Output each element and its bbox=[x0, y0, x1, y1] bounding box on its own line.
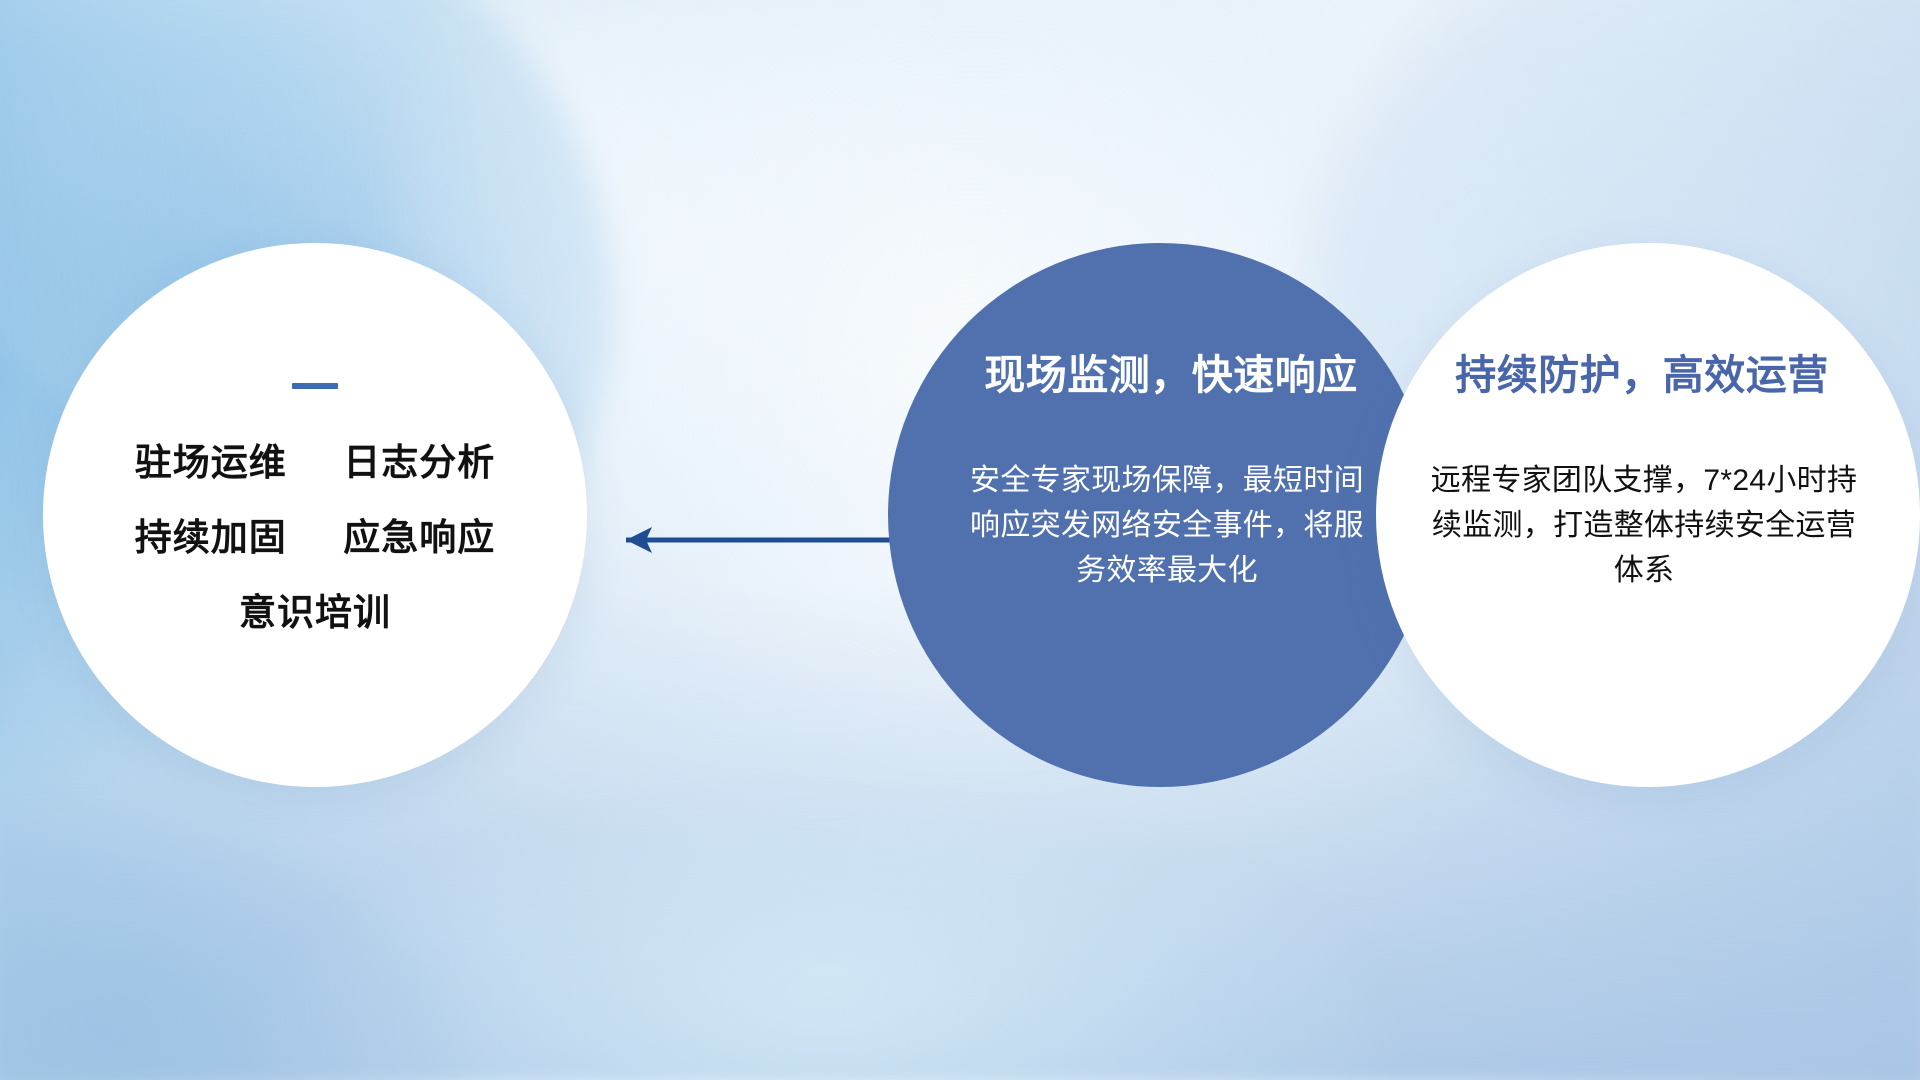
circle-onsite-monitoring[interactable] bbox=[888, 243, 1432, 787]
slide-canvas: 驻场运维 日志分析 持续加固 应急响应 意识培训 现场监测，快速响应 安全专家现… bbox=[0, 0, 1920, 1080]
circle-continuous-protection[interactable] bbox=[1376, 243, 1920, 787]
arrow-left-icon bbox=[596, 520, 896, 560]
circle-capabilities[interactable] bbox=[43, 243, 587, 787]
